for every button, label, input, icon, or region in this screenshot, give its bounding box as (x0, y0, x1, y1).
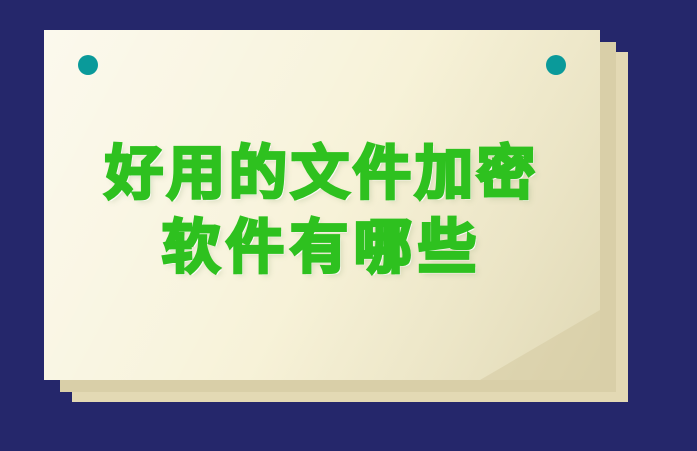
poster-title-line-1: 好用的文件加密 (44, 136, 600, 210)
poster-canvas: 好用的文件加密 软件有哪些 (0, 0, 697, 451)
top-right-pin-icon (546, 55, 566, 75)
top-left-pin-icon (78, 55, 98, 75)
poster-title: 好用的文件加密 软件有哪些 (44, 136, 600, 284)
note-card: 好用的文件加密 软件有哪些 (44, 30, 600, 380)
poster-title-line-2: 软件有哪些 (44, 210, 600, 284)
card-corner-fold (480, 310, 600, 380)
